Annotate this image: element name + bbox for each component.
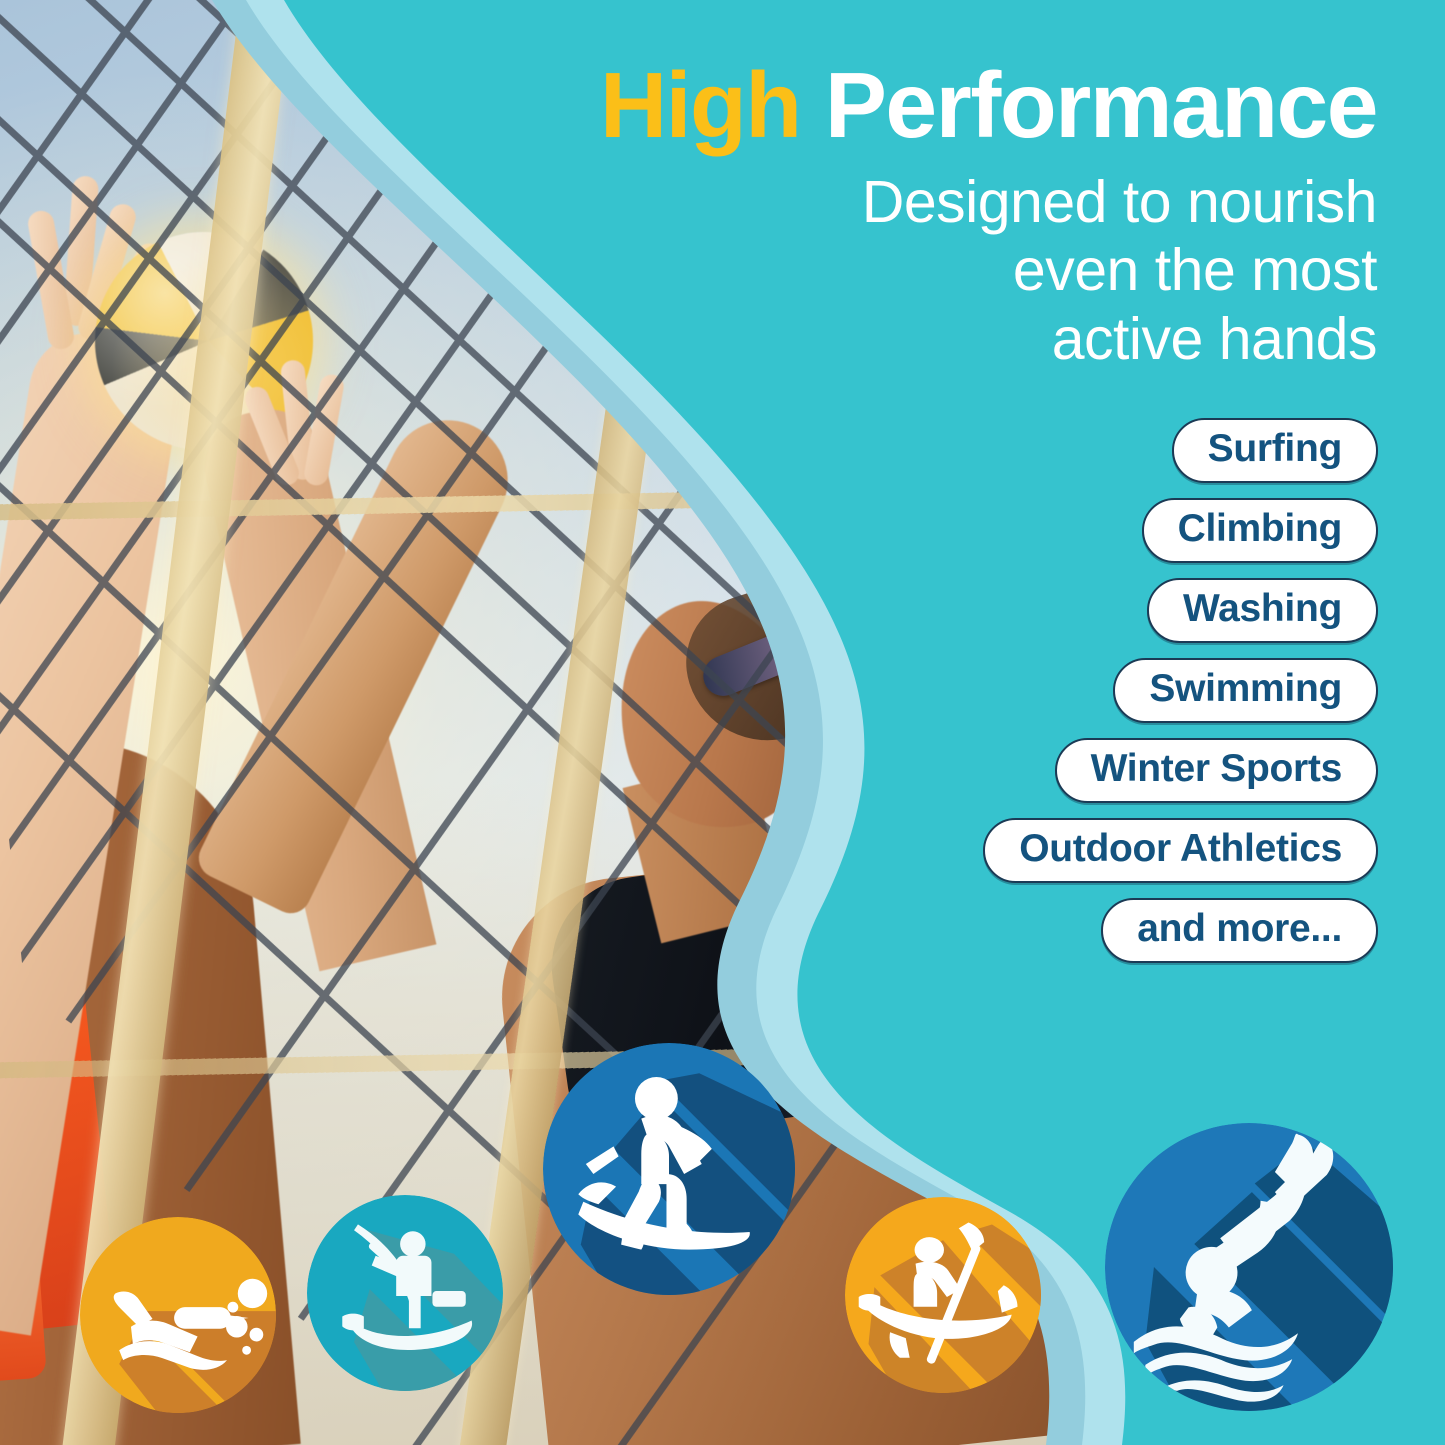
pill-winter-sports[interactable]: Winter Sports bbox=[1055, 738, 1378, 803]
page-title: High Performance bbox=[527, 58, 1377, 154]
headline-main-word: Performance bbox=[825, 53, 1377, 157]
pill-surfing[interactable]: Surfing bbox=[1172, 418, 1378, 483]
activity-pill-list: Surfing Climbing Washing Swimming Winter… bbox=[983, 418, 1378, 963]
pill-washing[interactable]: Washing bbox=[1147, 578, 1378, 643]
poster-canvas: High Performance Designed to nourish eve… bbox=[0, 0, 1445, 1445]
surfing-icon bbox=[543, 1043, 795, 1295]
subheadline: Designed to nourish even the most active… bbox=[527, 168, 1377, 373]
fishing-boat-icon bbox=[307, 1195, 503, 1391]
kayaking-icon bbox=[845, 1197, 1041, 1393]
subheadline-line-3: active hands bbox=[527, 305, 1377, 373]
pill-swimming[interactable]: Swimming bbox=[1113, 658, 1378, 723]
pill-outdoor-athletics[interactable]: Outdoor Athletics bbox=[983, 818, 1378, 883]
headline-block: High Performance Designed to nourish eve… bbox=[527, 58, 1377, 373]
pill-climbing[interactable]: Climbing bbox=[1142, 498, 1378, 563]
subheadline-line-1: Designed to nourish bbox=[527, 168, 1377, 236]
subheadline-line-2: even the most bbox=[527, 236, 1377, 304]
swimming-dive-icon bbox=[1105, 1123, 1393, 1411]
pill-and-more[interactable]: and more... bbox=[1101, 898, 1378, 963]
scuba-diving-icon bbox=[80, 1217, 276, 1413]
headline-accent-word: High bbox=[600, 53, 801, 157]
